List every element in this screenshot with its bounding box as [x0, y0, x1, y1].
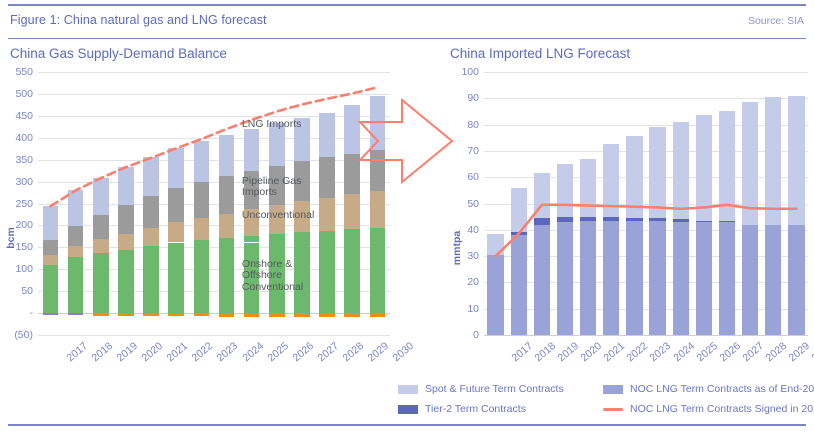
figure-frame: Figure 1: China natural gas and LNG fore… — [0, 0, 814, 432]
legend-color-swatch — [398, 385, 418, 394]
legend-item[interactable]: NOC LNG Term Contracts Signed in 2018 — [603, 403, 814, 415]
x-axis-tick: 2017 — [64, 340, 90, 364]
legend-item[interactable]: Tier-2 Term Contracts — [398, 403, 526, 415]
flow-arrow-icon — [352, 92, 460, 190]
figure-source: Source: SIA — [748, 15, 804, 27]
y-axis-tick: 450 — [15, 110, 33, 122]
legend-item[interactable]: NOC LNG Term Contracts as of End-2017 — [603, 383, 814, 395]
y-axis-tick: 400 — [15, 132, 33, 144]
x-axis-tick: 2027 — [315, 340, 341, 364]
x-axis-tick: 2024 — [240, 340, 266, 364]
x-axis-tick: 2023 — [215, 340, 241, 364]
y-axis-tick: 150 — [15, 241, 33, 253]
figure-title: Figure 1: China natural gas and LNG fore… — [10, 13, 267, 27]
x-axis-tick: 2021 — [165, 340, 191, 364]
y-axis-tick: 10 — [467, 303, 479, 315]
y-axis-tick: 90 — [467, 92, 479, 104]
y-axis-tick: 40 — [467, 224, 479, 236]
right-chart-title: China Imported LNG Forecast — [450, 46, 630, 61]
y-axis-tick: 350 — [15, 154, 33, 166]
x-axis-tick: 2022 — [625, 340, 651, 364]
chart-annotation: Pipeline Gas Imports — [242, 176, 302, 199]
bottom-rule — [8, 424, 806, 426]
y-axis-tick: 50 — [21, 285, 33, 297]
y-axis-tick: 30 — [467, 250, 479, 262]
x-axis-tick: 2029 — [787, 340, 813, 364]
gridline — [484, 335, 808, 336]
x-axis-tick: 2028 — [341, 340, 367, 364]
x-axis-tick: 2026 — [290, 340, 316, 364]
legend-label: Tier-2 Term Contracts — [425, 403, 526, 415]
y-axis-tick: 60 — [467, 171, 479, 183]
y-axis-tick: 100 — [461, 66, 479, 78]
right-y-axis-label: mmtpa — [451, 231, 463, 265]
x-axis-tick: 2030 — [391, 340, 417, 364]
legend-color-swatch — [603, 385, 623, 394]
x-axis-tick: 2025 — [694, 340, 720, 364]
y-axis-tick: - — [30, 307, 34, 319]
y-axis-tick: (50) — [14, 329, 33, 341]
y-axis-tick: 80 — [467, 119, 479, 131]
y-axis-tick: 70 — [467, 145, 479, 157]
y-axis-tick: 0 — [473, 329, 479, 341]
y-axis-tick: 20 — [467, 276, 479, 288]
x-axis-tick: 2020 — [139, 340, 165, 364]
x-axis-tick: 2020 — [578, 340, 604, 364]
legend-label: NOC LNG Term Contracts as of End-2017 — [630, 383, 814, 395]
x-axis-tick: 2029 — [366, 340, 392, 364]
gridline — [38, 335, 390, 336]
x-axis-tick: 2018 — [89, 340, 115, 364]
x-axis-tick: 2027 — [740, 340, 766, 364]
right-trend-line — [484, 72, 808, 335]
x-axis-tick: 2021 — [602, 340, 628, 364]
y-axis-tick: 300 — [15, 176, 33, 188]
left-y-axis-label: bcm — [5, 227, 17, 249]
chart-annotation: LNG Imports — [242, 119, 302, 131]
left-chart-title: China Gas Supply-Demand Balance — [10, 46, 227, 61]
left-chart: (50)-50100150200250300350400450500550201… — [8, 72, 390, 372]
y-axis-tick: 250 — [15, 198, 33, 210]
title-underline-rule — [8, 38, 806, 39]
x-axis-tick: 2017 — [509, 340, 535, 364]
left-plot-area: (50)-50100150200250300350400450500550201… — [38, 72, 390, 335]
chart-legend: Spot & Future Term ContractsNOC LNG Term… — [398, 383, 808, 423]
y-axis-tick: 200 — [15, 219, 33, 231]
chart-annotation: Onshore & Offshore Conventional — [242, 259, 303, 294]
y-axis-tick: 500 — [15, 88, 33, 100]
legend-item[interactable]: Spot & Future Term Contracts — [398, 383, 564, 395]
y-axis-tick: 50 — [467, 198, 479, 210]
legend-color-swatch — [398, 405, 418, 414]
x-axis-tick: 2018 — [532, 340, 558, 364]
x-axis-tick: 2023 — [648, 340, 674, 364]
x-axis-tick: 2026 — [717, 340, 743, 364]
chart-annotation: Unconventional — [242, 210, 314, 222]
x-axis-tick: 2022 — [190, 340, 216, 364]
legend-label: NOC LNG Term Contracts Signed in 2018 — [630, 403, 814, 415]
legend-line-swatch — [603, 408, 623, 411]
left-trend-line — [38, 72, 390, 335]
x-axis-tick: 2019 — [114, 340, 140, 364]
top-rule — [8, 4, 806, 6]
x-axis-tick: 2028 — [764, 340, 790, 364]
x-axis-tick: 2024 — [671, 340, 697, 364]
legend-label: Spot & Future Term Contracts — [425, 383, 564, 395]
x-axis-tick: 2025 — [265, 340, 291, 364]
right-plot-area: 0102030405060708090100201720182019202020… — [484, 72, 808, 335]
y-axis-tick: 550 — [15, 66, 33, 78]
x-axis-tick: 2019 — [555, 340, 581, 364]
right-chart: 0102030405060708090100201720182019202020… — [452, 72, 808, 372]
x-axis-tick: 2030 — [810, 340, 814, 364]
y-axis-tick: 100 — [15, 263, 33, 275]
